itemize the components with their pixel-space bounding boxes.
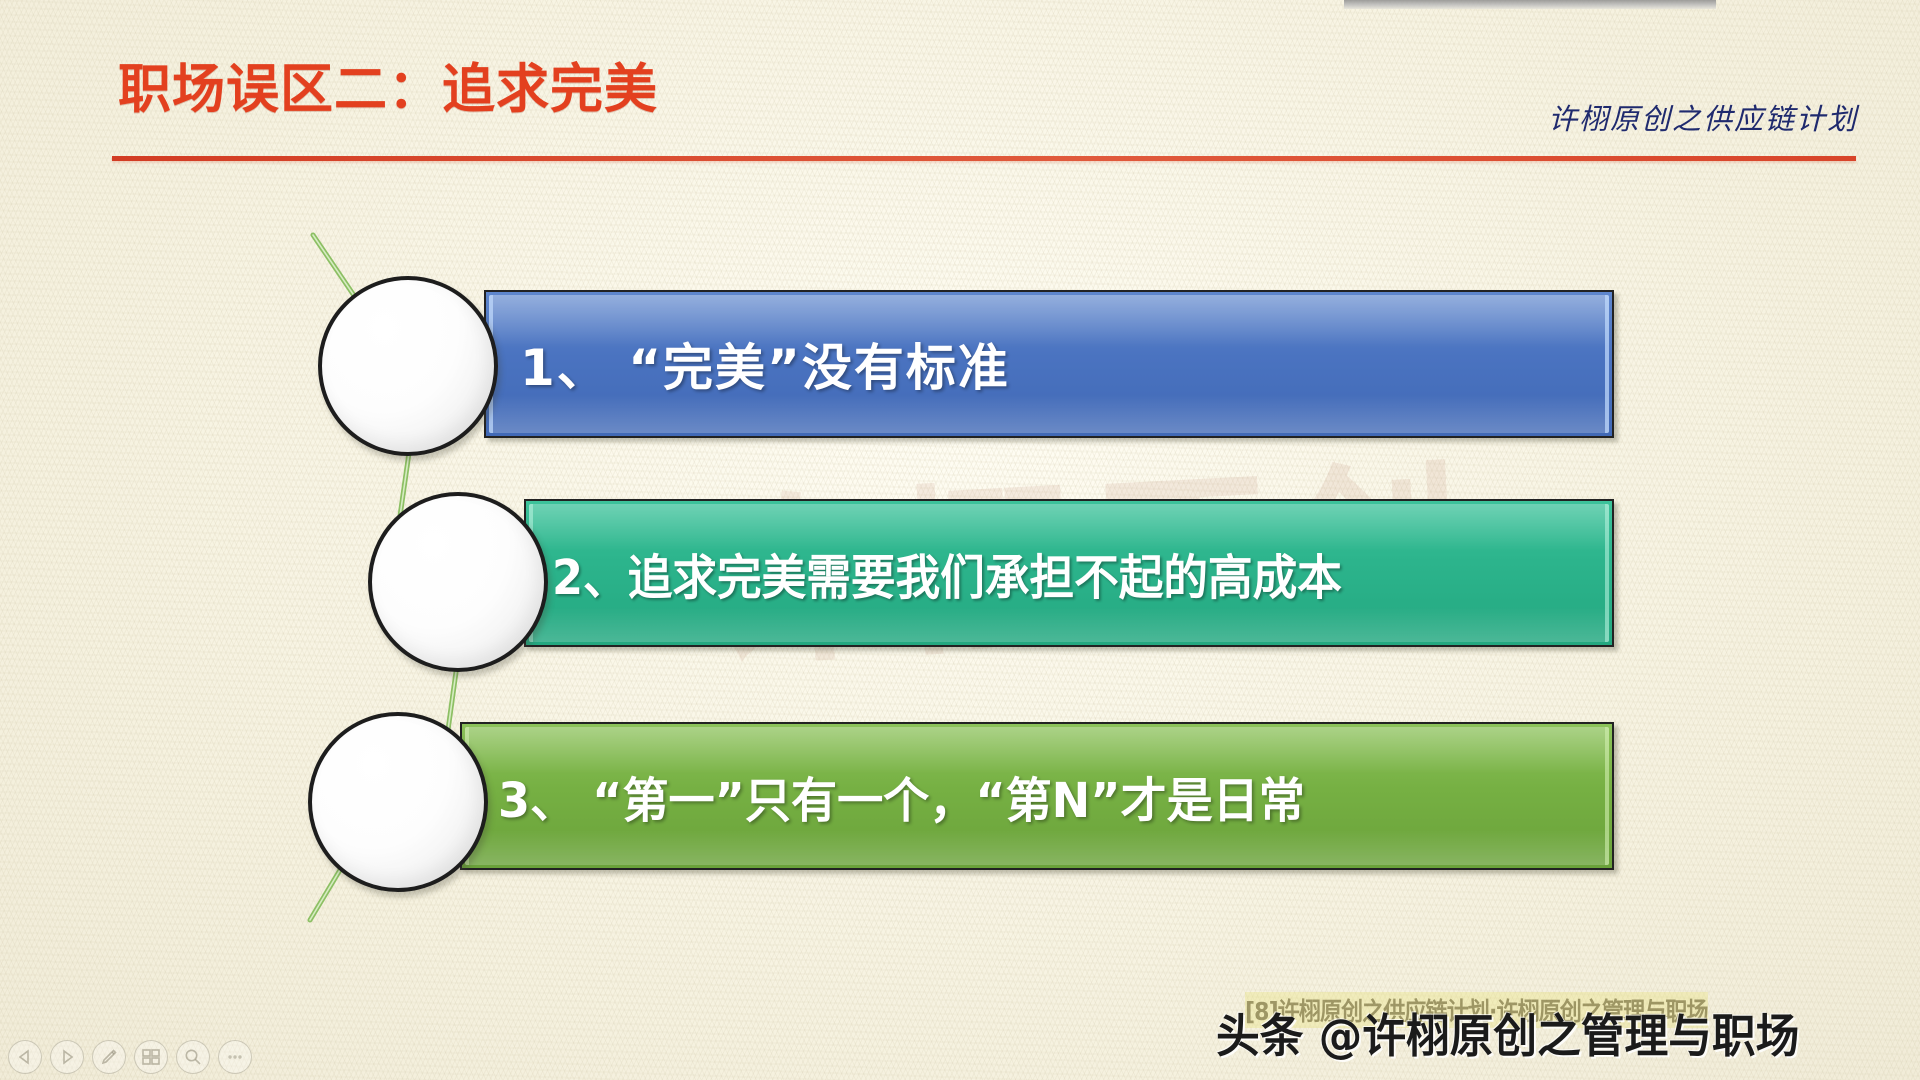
list-item-label: 1、 “完美”没有标准	[520, 328, 1010, 400]
previous-slide-button[interactable]	[8, 1040, 42, 1074]
title-divider	[112, 156, 1856, 161]
faint-caption-watermark: [8]许栩原创之供应链计划·许栩原创之管理与职场	[1245, 992, 1708, 1028]
circle-node-icon	[368, 492, 548, 672]
pen-icon	[99, 1047, 119, 1067]
circle-node-icon	[308, 712, 488, 892]
cropped-top-strip	[1344, 0, 1716, 9]
pen-tool-button[interactable]	[92, 1040, 126, 1074]
list-item[interactable]: 2、追求完美需要我们承担不起的高成本	[524, 499, 1614, 647]
slide-overview-button[interactable]	[134, 1040, 168, 1074]
triangle-left-icon	[16, 1048, 34, 1066]
list-item-label: 2、追求完美需要我们承担不起的高成本	[552, 538, 1342, 608]
grid-slides-icon	[141, 1048, 161, 1066]
brand-watermark: 头条 @许栩原创之管理与职场	[1216, 1000, 1799, 1066]
slide-canvas: 许栩原创 职场误区二：追求完美 许栩原创之供应链计划 1、 “完美”没有标准 2…	[0, 0, 1920, 1080]
next-slide-button[interactable]	[50, 1040, 84, 1074]
magnifier-icon	[183, 1047, 203, 1067]
list-item[interactable]: 3、 “第一”只有一个，“第N”才是日常	[460, 722, 1614, 870]
circle-node-icon	[318, 276, 498, 456]
slideshow-toolbar	[8, 1040, 252, 1074]
list-item-label: 3、 “第一”只有一个，“第N”才是日常	[498, 761, 1305, 831]
header-byline: 许栩原创之供应链计划	[1548, 96, 1858, 138]
more-options-button[interactable]	[218, 1040, 252, 1074]
ellipsis-icon	[225, 1052, 245, 1062]
zoom-button[interactable]	[176, 1040, 210, 1074]
triangle-right-icon	[58, 1048, 76, 1066]
list-item[interactable]: 1、 “完美”没有标准	[484, 290, 1614, 438]
page-title: 职场误区二：追求完美	[118, 60, 658, 119]
